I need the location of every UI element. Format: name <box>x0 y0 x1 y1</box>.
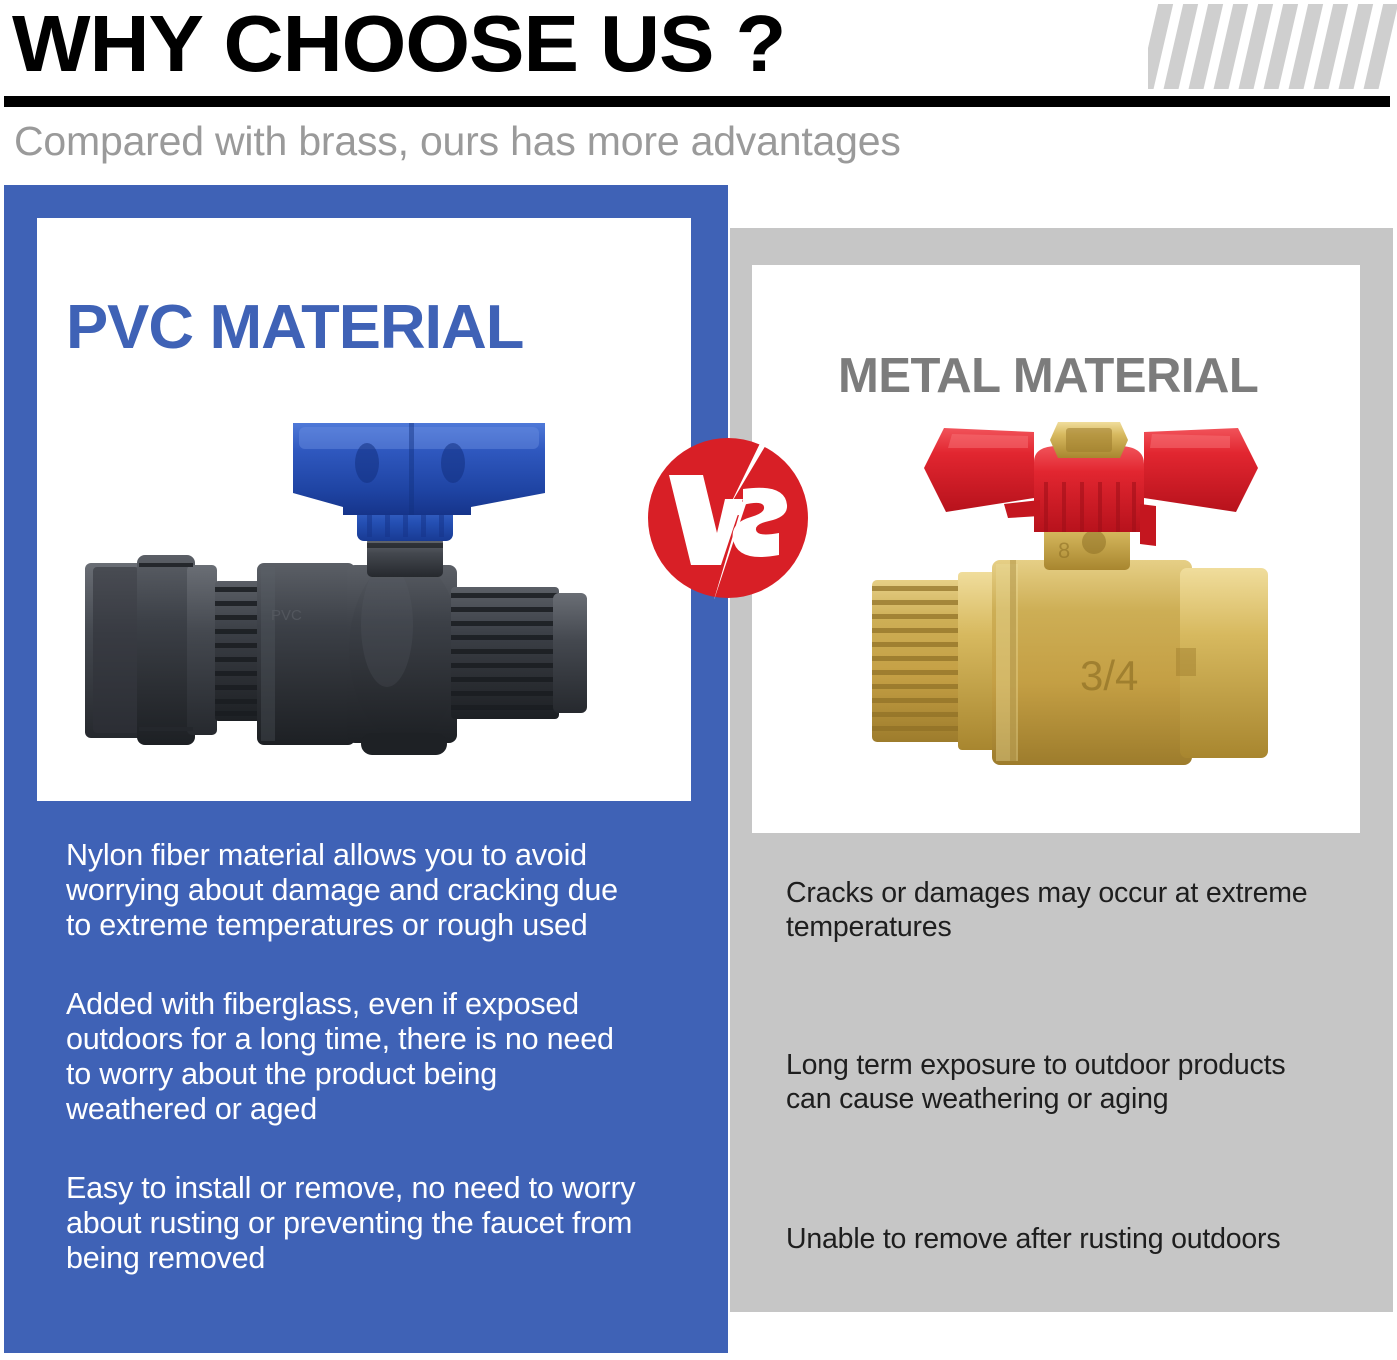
page-subtitle: Compared with brass, ours has more advan… <box>14 116 901 166</box>
pvc-benefit-3: Easy to install or remove, no need to wo… <box>66 1171 636 1276</box>
comparison-infographic: WHY CHOOSE US ? Compared with brass, our… <box>0 0 1397 1360</box>
metal-drawback-2: Long term exposure to outdoor products c… <box>786 1048 1331 1116</box>
pvc-valve-image: PVC <box>75 415 605 785</box>
valve-size-marking: 3/4 <box>1080 652 1138 699</box>
page-title: WHY CHOOSE US ? <box>12 0 785 90</box>
pvc-benefit-2: Added with fiberglass, even if exposed o… <box>66 987 636 1127</box>
pvc-benefit-1: Nylon fiber material allows you to avoid… <box>66 838 636 943</box>
header-divider-rule <box>4 96 1390 107</box>
metal-drawback-1: Cracks or damages may occur at extreme t… <box>786 876 1331 944</box>
pvc-benefits-list: Nylon fiber material allows you to avoid… <box>66 838 636 1276</box>
diagonal-stripes-decoration <box>1148 4 1397 89</box>
header: WHY CHOOSE US ? Compared with brass, our… <box>0 0 1397 175</box>
svg-text:PVC: PVC <box>271 607 302 624</box>
metal-drawbacks-list: Cracks or damages may occur at extreme t… <box>786 876 1331 1256</box>
metal-heading: METAL MATERIAL <box>838 348 1258 404</box>
pvc-heading: PVC MATERIAL <box>66 292 523 363</box>
brass-valve-image: 3/4 <box>862 420 1282 810</box>
svg-text:8: 8 <box>1058 538 1070 563</box>
metal-drawback-3: Unable to remove after rusting outdoors <box>786 1222 1331 1256</box>
versus-badge <box>647 437 809 599</box>
